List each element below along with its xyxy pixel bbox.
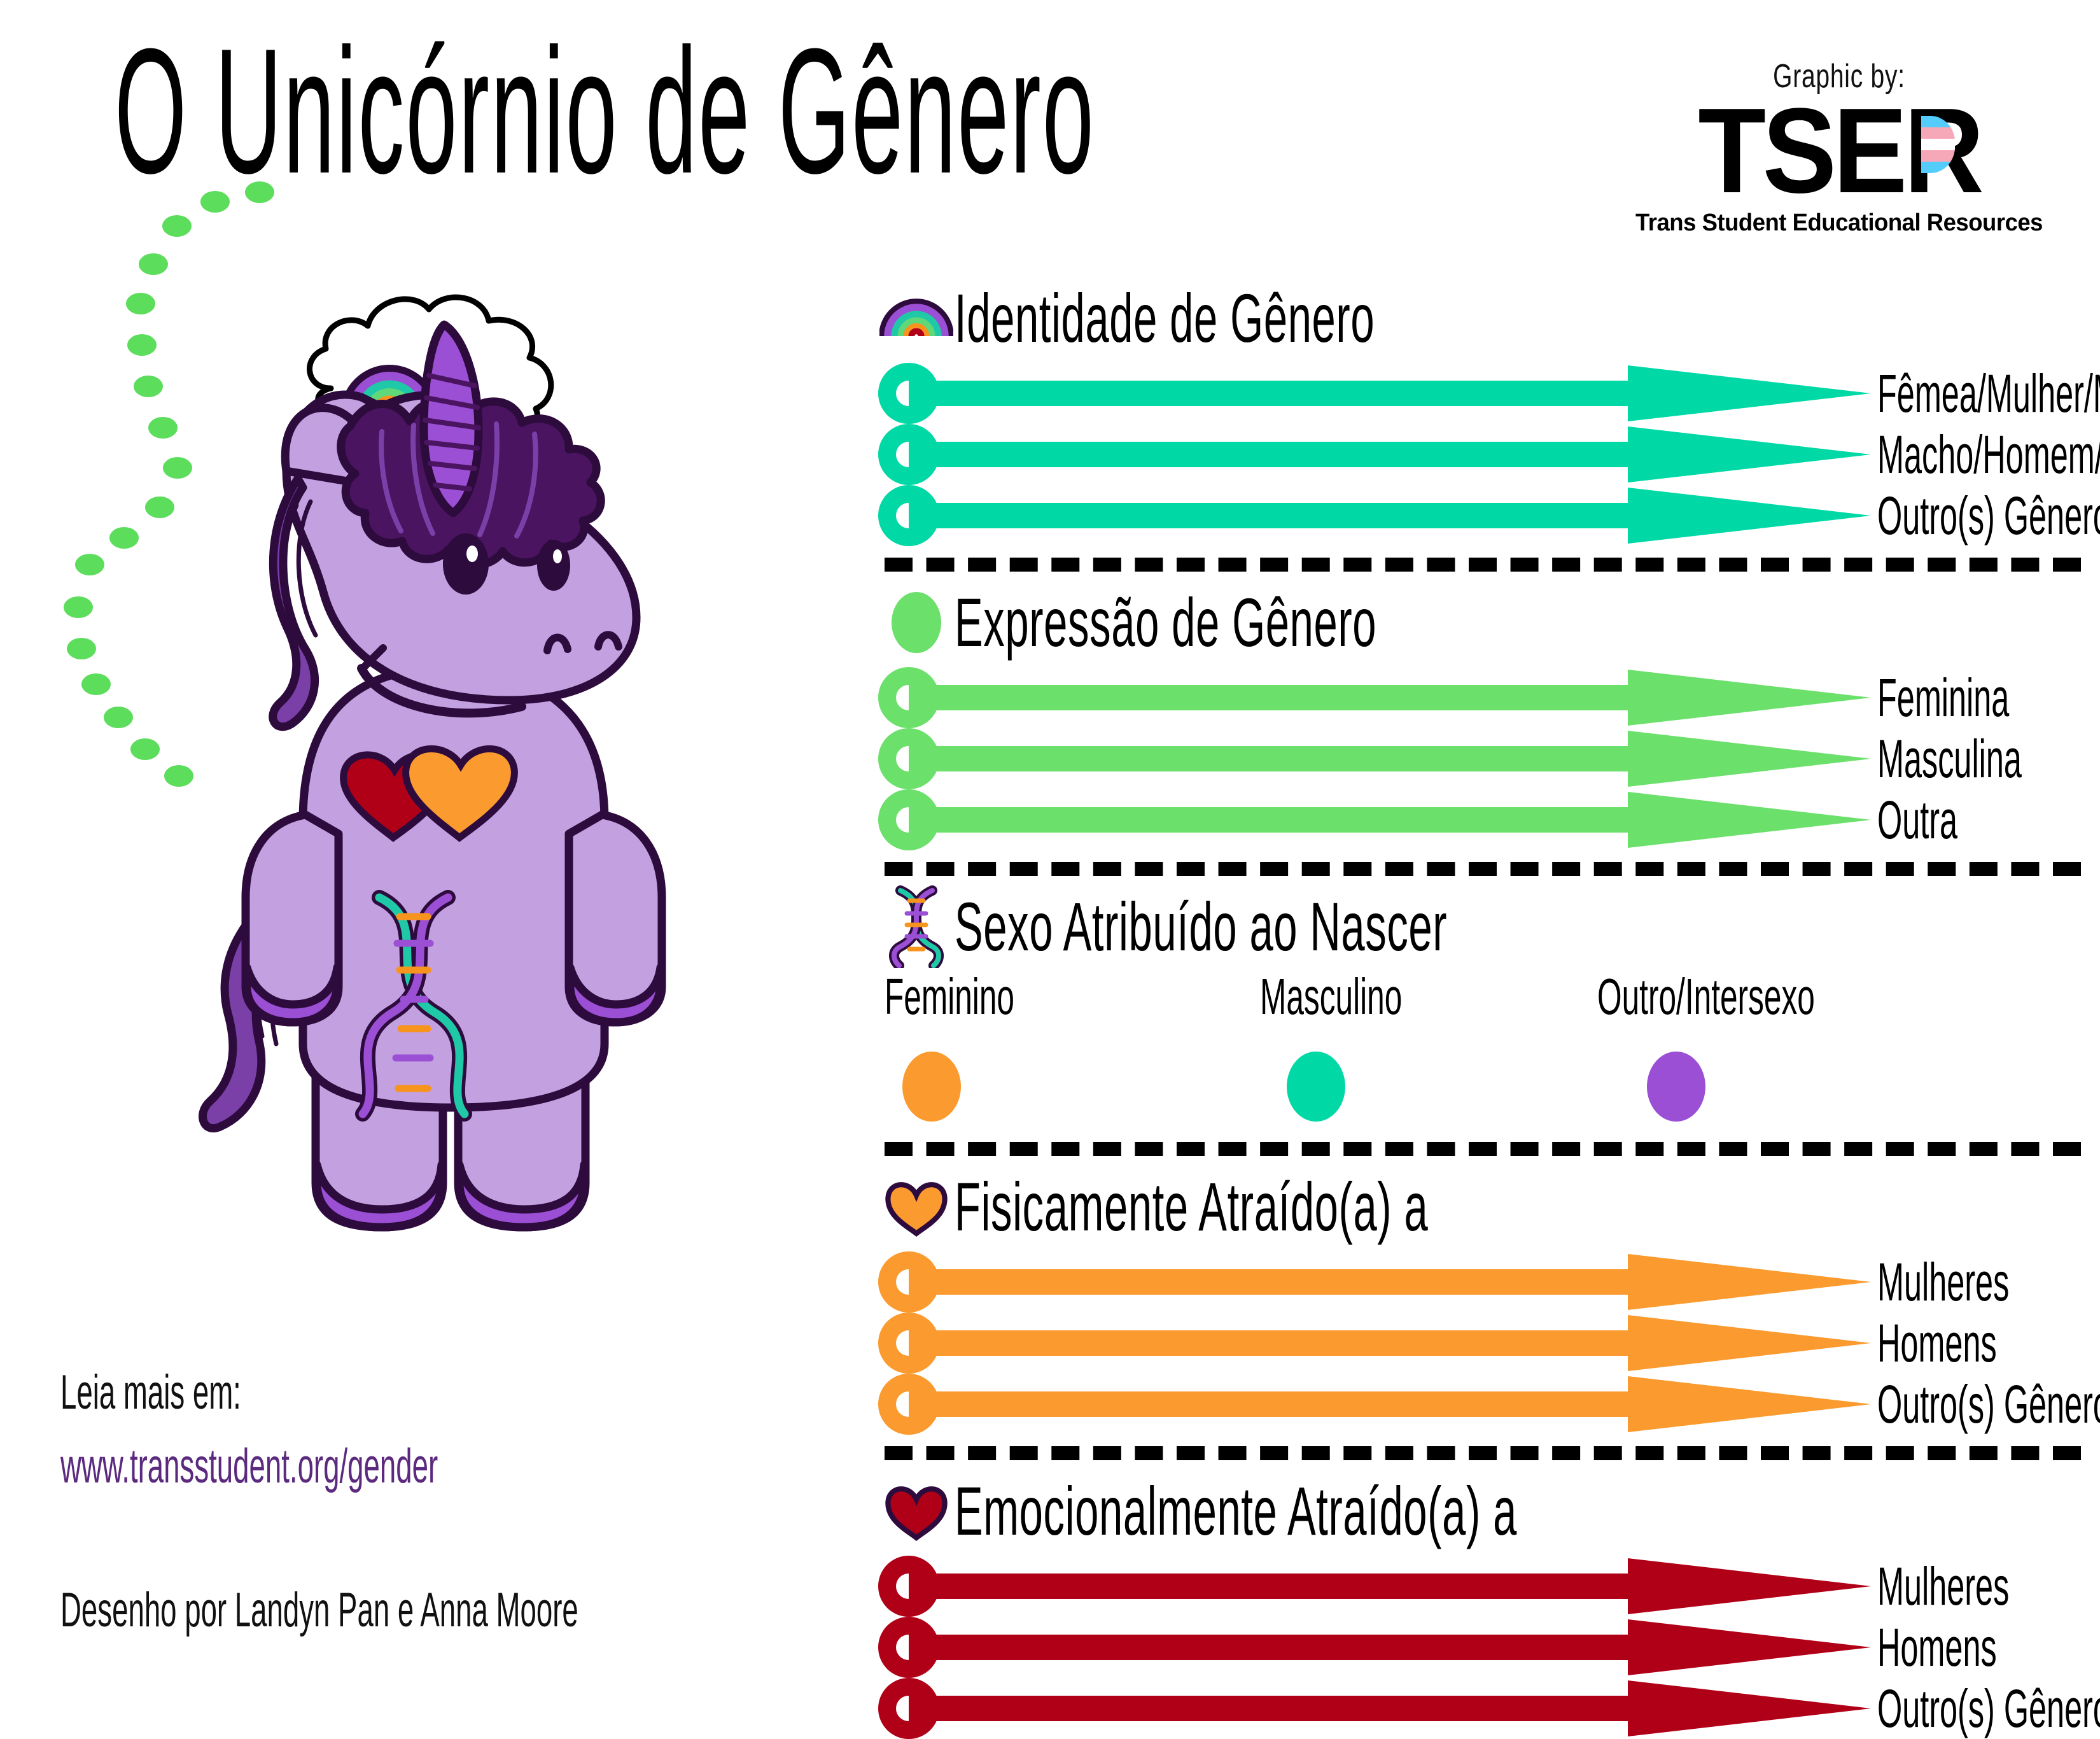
green-circle-icon	[892, 592, 941, 653]
arrow-track[interactable]	[878, 1678, 1871, 1739]
read-more-label: Leia mais em:	[60, 1369, 519, 1417]
footer: Leia mais em: www.transstudent.org/gende…	[60, 1369, 824, 1635]
row-label: Mulheres	[1877, 1255, 2009, 1309]
rainbow-icon	[878, 283, 955, 353]
section-divider	[885, 1142, 2081, 1156]
section-fisicamente: Fisicamente Atraído(a) a Mulheres Homens…	[878, 1162, 2087, 1435]
spectrum-sections: Identidade de Gênero Fêmea/Mulher/Menina…	[878, 274, 2087, 1739]
sex-option-label: Outro/Intersexo	[1597, 971, 1815, 1022]
spectrum-rows: Fêmea/Mulher/Menina Macho/Homem/Menino O…	[878, 363, 2087, 546]
dna-icon	[878, 892, 955, 962]
section-title-fisicamente: Fisicamente Atraído(a) a	[955, 1172, 1428, 1241]
arrow-track[interactable]	[878, 424, 1871, 485]
section-divider	[885, 558, 2081, 572]
spectrum-arrow	[878, 1556, 1871, 1617]
section-divider	[885, 862, 2081, 876]
spectrum-arrow	[878, 1313, 1871, 1374]
spectrum-row[interactable]: Masculina	[878, 728, 2087, 789]
section-expressao: Expressão de Gênero Feminina Masculina O…	[878, 578, 2087, 850]
page-title: O Unicórnio de Gênero	[115, 25, 876, 197]
sex-options-row: FemininoMasculinoOutro/Intersexo	[878, 971, 2075, 1130]
section-header-emocionalmente: Emocionalmente Atraído(a) a	[878, 1467, 2087, 1556]
row-label: Outro(s) Gênero(s)	[1877, 1682, 2100, 1735]
spectrum-arrow	[878, 789, 1871, 850]
section-title-expressao: Expressão de Gênero	[955, 588, 1376, 657]
spectrum-row[interactable]: Outra	[878, 789, 2087, 850]
sex-option[interactable]: Masculino	[1260, 971, 1489, 1122]
spectrum-row[interactable]: Mulheres	[878, 1251, 2087, 1313]
red-heart-icon	[878, 1476, 955, 1546]
spectrum-row[interactable]: Macho/Homem/Menino	[878, 424, 2087, 485]
orange-heart-icon	[885, 1176, 948, 1237]
section-emocionalmente: Emocionalmente Atraído(a) a Mulheres Hom…	[878, 1467, 2087, 1739]
orange-heart-icon	[878, 1172, 955, 1242]
green-circle-icon	[878, 588, 955, 658]
spectrum-arrow	[878, 667, 1871, 728]
unicorn-illustration	[0, 274, 865, 1324]
spectrum-arrow	[878, 1617, 1871, 1678]
sex-option-dot[interactable]	[1647, 1052, 1705, 1122]
section-header-sexo: Sexo Atribuído ao Nascer	[878, 882, 2087, 971]
sex-option-label: Feminino	[885, 971, 1014, 1022]
section-title-emocionalmente: Emocionalmente Atraído(a) a	[955, 1477, 1517, 1545]
arrow-track[interactable]	[878, 1556, 1871, 1617]
spectrum-row[interactable]: Feminina	[878, 667, 2087, 728]
arrow-track[interactable]	[878, 667, 1871, 728]
spectrum-row[interactable]: Homens	[878, 1313, 2087, 1374]
section-header-fisicamente: Fisicamente Atraído(a) a	[878, 1162, 2087, 1251]
section-divider	[885, 1446, 2081, 1460]
spectrum-row[interactable]: Homens	[878, 1617, 2087, 1678]
credit-label: Desenho por Landyn Pan e Anna Moore	[60, 1586, 519, 1635]
row-label: Macho/Homem/Menino	[1877, 428, 2100, 481]
spectrum-rows: Mulheres Homens Outro(s) Gênero(s)	[878, 1251, 2087, 1435]
spectrum-arrow	[878, 485, 1871, 546]
arrow-track[interactable]	[878, 1374, 1871, 1435]
red-heart-icon	[885, 1481, 948, 1542]
section-sexo: Sexo Atribuído ao NascerFemininoMasculin…	[878, 882, 2087, 1130]
section-title-identidade: Identidade de Gênero	[955, 284, 1375, 353]
arrow-track[interactable]	[878, 789, 1871, 850]
tser-acronym: TSER	[1698, 95, 1980, 207]
section-identidade: Identidade de Gênero Fêmea/Mulher/Menina…	[878, 274, 2087, 546]
spectrum-arrow	[878, 1678, 1871, 1739]
spectrum-arrow	[878, 1251, 1871, 1313]
section-title-sexo: Sexo Atribuído ao Nascer	[955, 892, 1447, 961]
row-label: Outro(s) Gênero(s)	[1877, 489, 2100, 542]
spectrum-arrow	[878, 363, 1871, 424]
spectrum-arrow	[878, 424, 1871, 485]
spectrum-row[interactable]: Mulheres	[878, 1556, 2087, 1617]
spectrum-row[interactable]: Outro(s) Gênero(s)	[878, 1678, 2087, 1739]
spectrum-arrow	[878, 728, 1871, 789]
row-label: Fêmea/Mulher/Menina	[1877, 367, 2100, 420]
website-link[interactable]: www.transstudent.org/gender	[60, 1442, 519, 1491]
row-label: Homens	[1877, 1316, 1997, 1370]
arrow-track[interactable]	[878, 728, 1871, 789]
tser-logo: Graphic by: TSER Trans Student Education…	[1616, 57, 2062, 237]
dna-icon	[888, 885, 945, 968]
section-header-identidade: Identidade de Gênero	[878, 274, 2087, 363]
sex-option-dot[interactable]	[902, 1052, 961, 1122]
arrow-track[interactable]	[878, 1617, 1871, 1678]
arrow-track[interactable]	[878, 1251, 1871, 1313]
spectrum-rows: Feminina Masculina Outra	[878, 667, 2087, 850]
spectrum-rows: Mulheres Homens Outro(s) Gênero(s)	[878, 1556, 2087, 1739]
row-label: Homens	[1877, 1621, 1997, 1674]
rainbow-icon	[879, 298, 953, 339]
row-label: Masculina	[1877, 732, 2022, 785]
spectrum-row[interactable]: Outro(s) Gênero(s)	[878, 1374, 2087, 1435]
unicorn-character	[191, 261, 713, 1254]
spectrum-row[interactable]: Outro(s) Gênero(s)	[878, 485, 2087, 546]
tser-full-name: Trans Student Educational Resources	[1625, 209, 2053, 237]
row-label: Feminina	[1877, 671, 2009, 724]
section-header-expressao: Expressão de Gênero	[878, 578, 2087, 667]
spectrum-arrow	[878, 1374, 1871, 1435]
row-label: Outra	[1877, 793, 1957, 847]
arrow-track[interactable]	[878, 1313, 1871, 1374]
row-label: Outro(s) Gênero(s)	[1877, 1377, 2100, 1431]
row-label: Mulheres	[1877, 1559, 2009, 1613]
arrow-track[interactable]	[878, 363, 1871, 424]
sex-option-dot[interactable]	[1287, 1052, 1345, 1122]
sex-option[interactable]: Outro/Intersexo	[1597, 971, 1948, 1122]
sex-option-label: Masculino	[1260, 971, 1402, 1022]
sex-option[interactable]: Feminino	[885, 971, 1094, 1122]
spectrum-row[interactable]: Fêmea/Mulher/Menina	[878, 363, 2087, 424]
arrow-track[interactable]	[878, 485, 1871, 546]
